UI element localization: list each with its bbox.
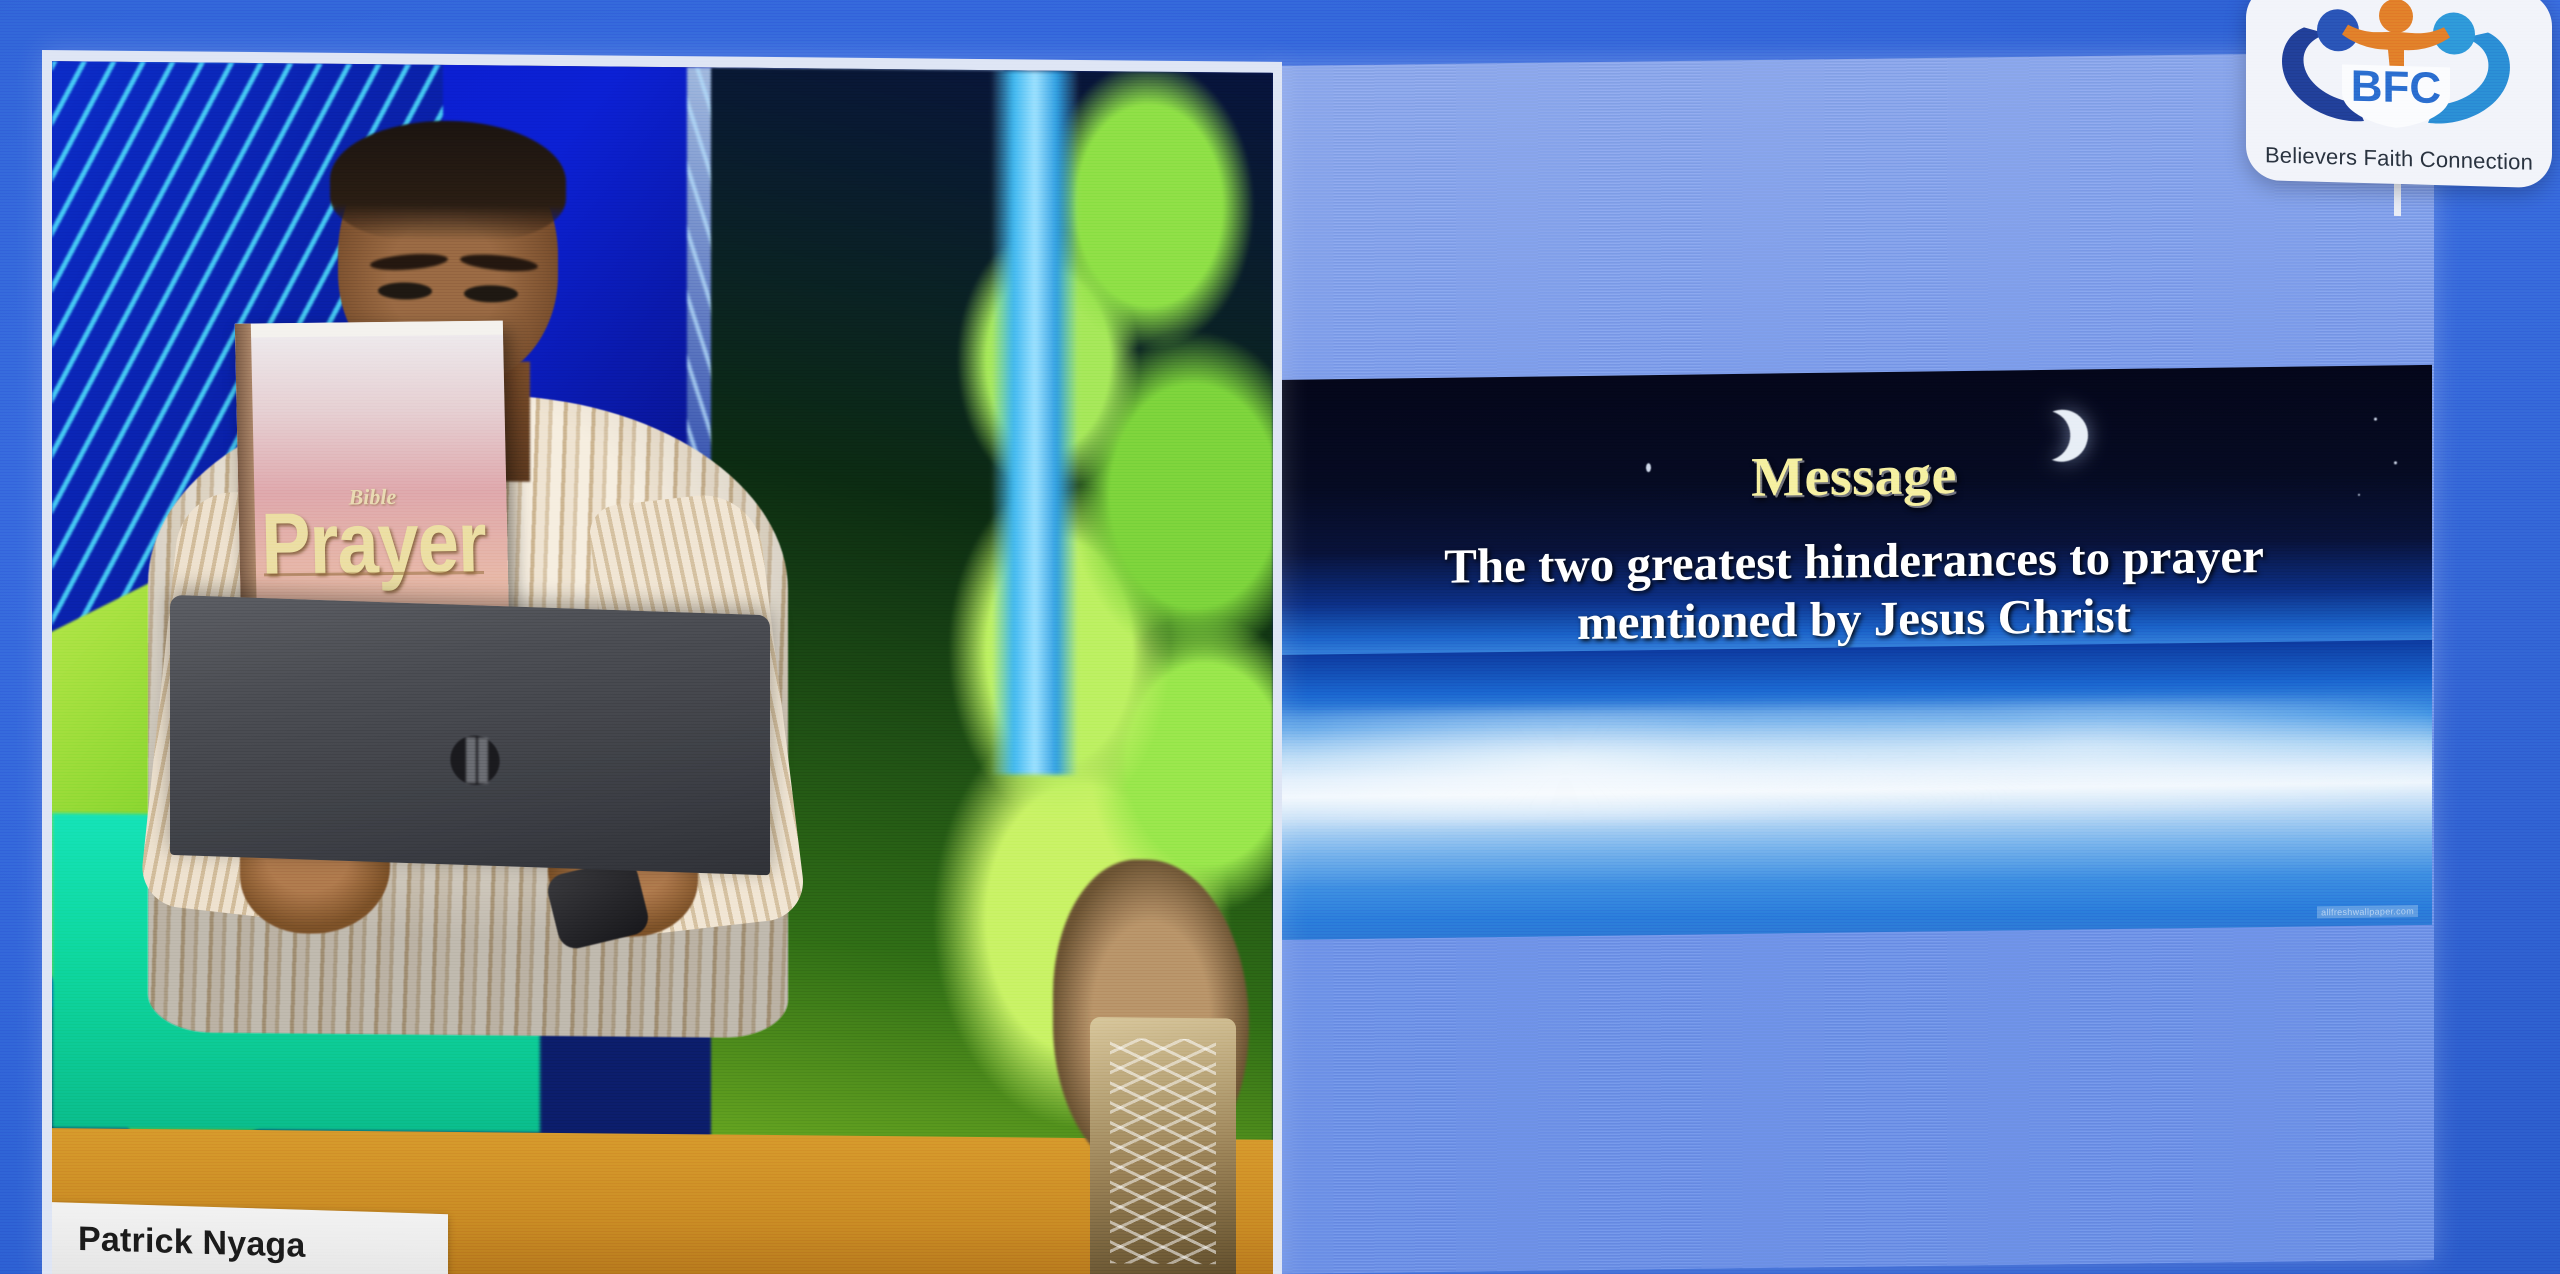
participant-video-tile[interactable]: Bible Prayer Study Course Kenneth E. Hag… (42, 50, 1282, 1274)
bfc-logo-caption: Believers Faith Connection (2246, 142, 2552, 177)
bfc-logo-icon: BFC (2246, 0, 2546, 136)
svg-text:BFC: BFC (2351, 62, 2441, 114)
person-eye-right (464, 285, 518, 303)
slide-sky-ocean-graphic: allfreshwallpaper.com (1276, 640, 2432, 940)
star-icon (2374, 418, 2377, 421)
video-feed: Bible Prayer Study Course Kenneth E. Hag… (52, 61, 1273, 1274)
book-top-edge (235, 321, 503, 338)
cloud-band (1276, 697, 2432, 826)
meeting-background-right (2434, 0, 2560, 1274)
person-eye-left (378, 282, 432, 300)
hp-logo-icon (446, 730, 504, 790)
bfc-logo-card[interactable]: BFC Believers Faith Connection (2246, 0, 2552, 188)
participant-name-badge: Patrick Nyaga (52, 1202, 448, 1274)
logo-stem (2394, 180, 2401, 216)
slide-body-line-1: The two greatest hinderances to prayer (1444, 528, 2264, 594)
person-hair (330, 120, 566, 242)
slide-title: Message (1276, 437, 2432, 516)
slide-watermark: allfreshwallpaper.com (2317, 905, 2418, 918)
slide-body-text: The two greatest hinderances to prayer m… (1298, 525, 2410, 655)
laptop (170, 595, 770, 875)
presentation-slide[interactable]: Message The two greatest hinderances to … (1276, 365, 2432, 661)
monitor-screen: Message The two greatest hinderances to … (0, 0, 2560, 1274)
book-title: Prayer (238, 491, 508, 594)
participant-name-label: Patrick Nyaga (78, 1219, 306, 1265)
